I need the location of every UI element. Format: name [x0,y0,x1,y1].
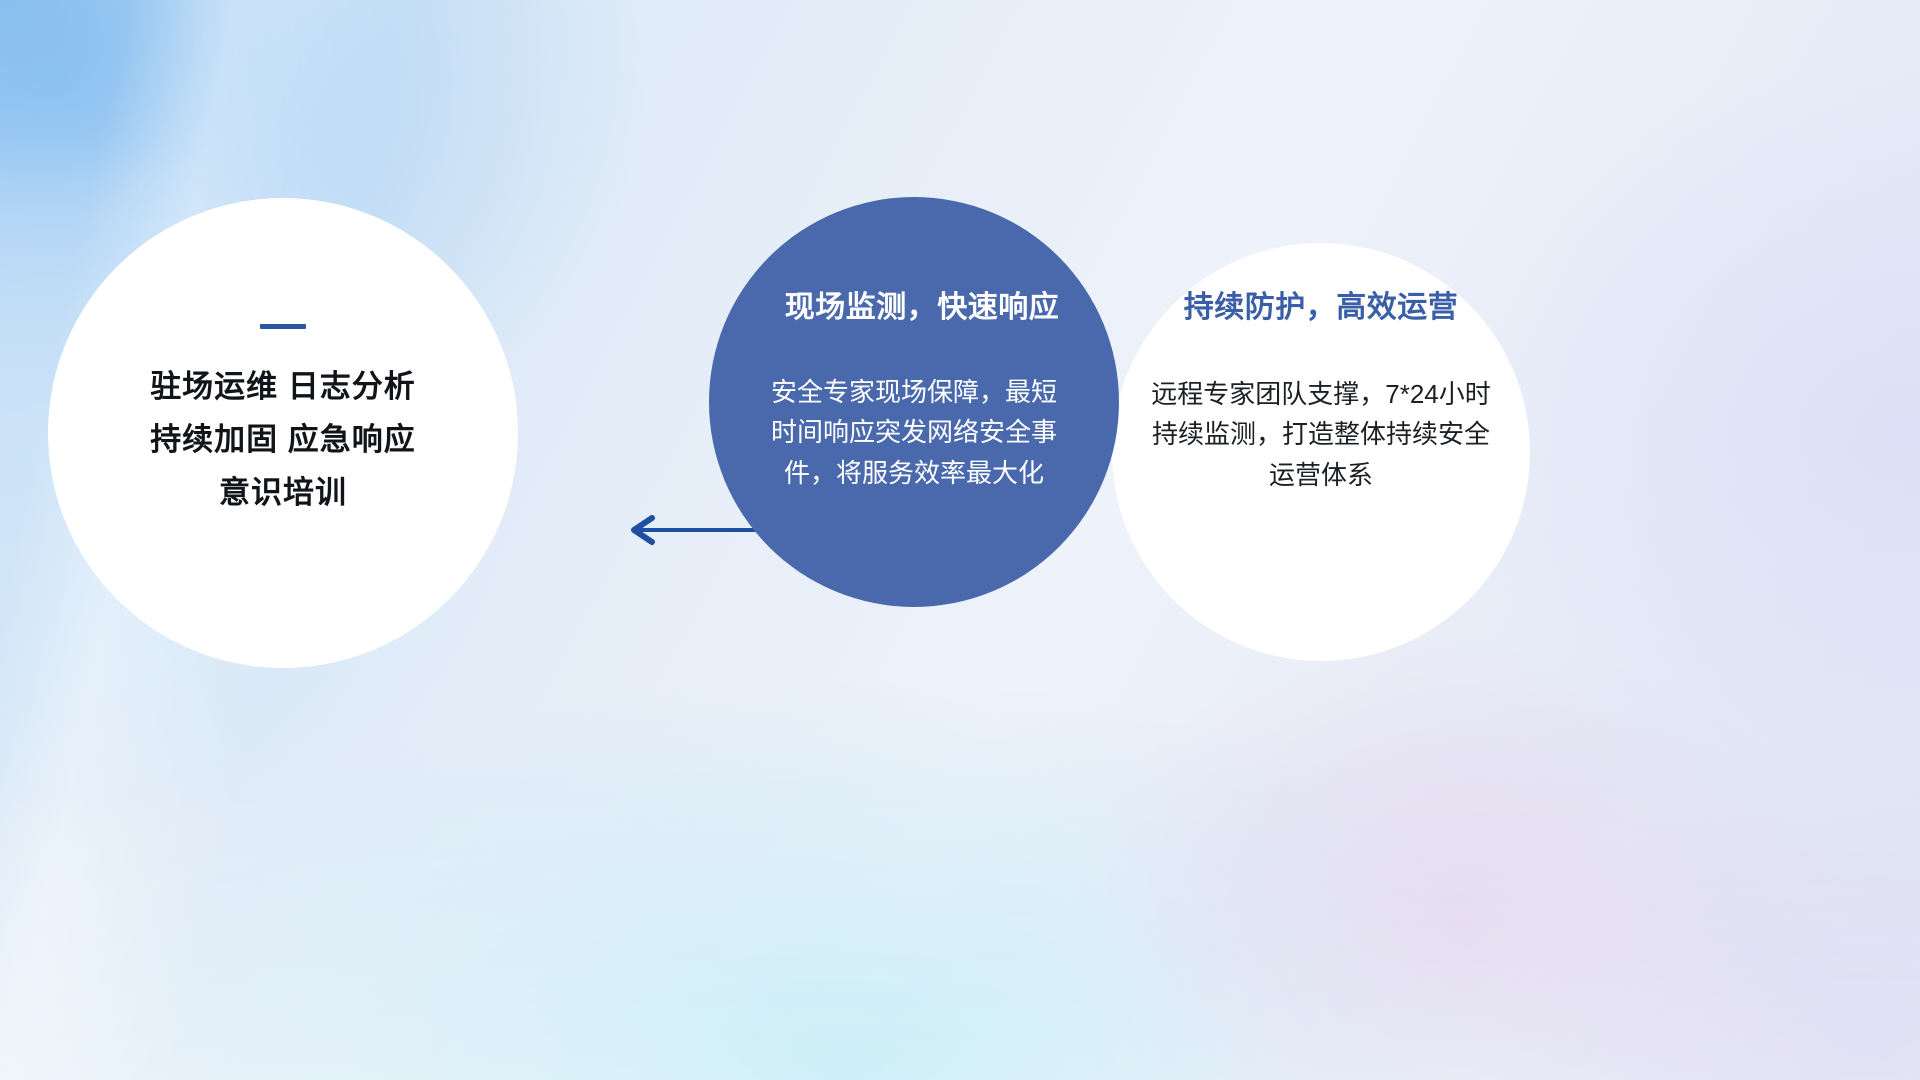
onsite-monitoring-body: 安全专家现场保障，最短时间响应突发网络安全事件，将服务效率最大化 [764,372,1064,493]
onsite-monitoring-card[interactable]: 现场监测，快速响应 安全专家现场保障，最短时间响应突发网络安全事件，将服务效率最… [709,197,1119,607]
list-item: 意识培训 [219,477,347,508]
slide-canvas: 驻场运维 日志分析 持续加固 应急响应 意识培训 现场监测，快速响应 安全专家现… [0,0,1920,1080]
continuous-protection-title: 持续防护，高效运营 [1184,291,1459,324]
onsite-monitoring-title: 现场监测，快速响应 [785,291,1060,324]
service-capabilities-list: 驻场运维 日志分析 持续加固 应急响应 意识培训 [150,371,416,508]
title-divider-rule [260,324,306,329]
list-item: 驻场运维 日志分析 [150,371,416,402]
continuous-protection-card[interactable]: 持续防护，高效运营 远程专家团队支撑，7*24小时持续监测，打造整体持续安全运营… [1112,243,1530,661]
service-capabilities-card[interactable]: 驻场运维 日志分析 持续加固 应急响应 意识培训 [48,198,518,668]
continuous-protection-body: 远程专家团队支撑，7*24小时持续监测，打造整体持续安全运营体系 [1141,374,1501,495]
list-item: 持续加固 应急响应 [150,424,416,455]
